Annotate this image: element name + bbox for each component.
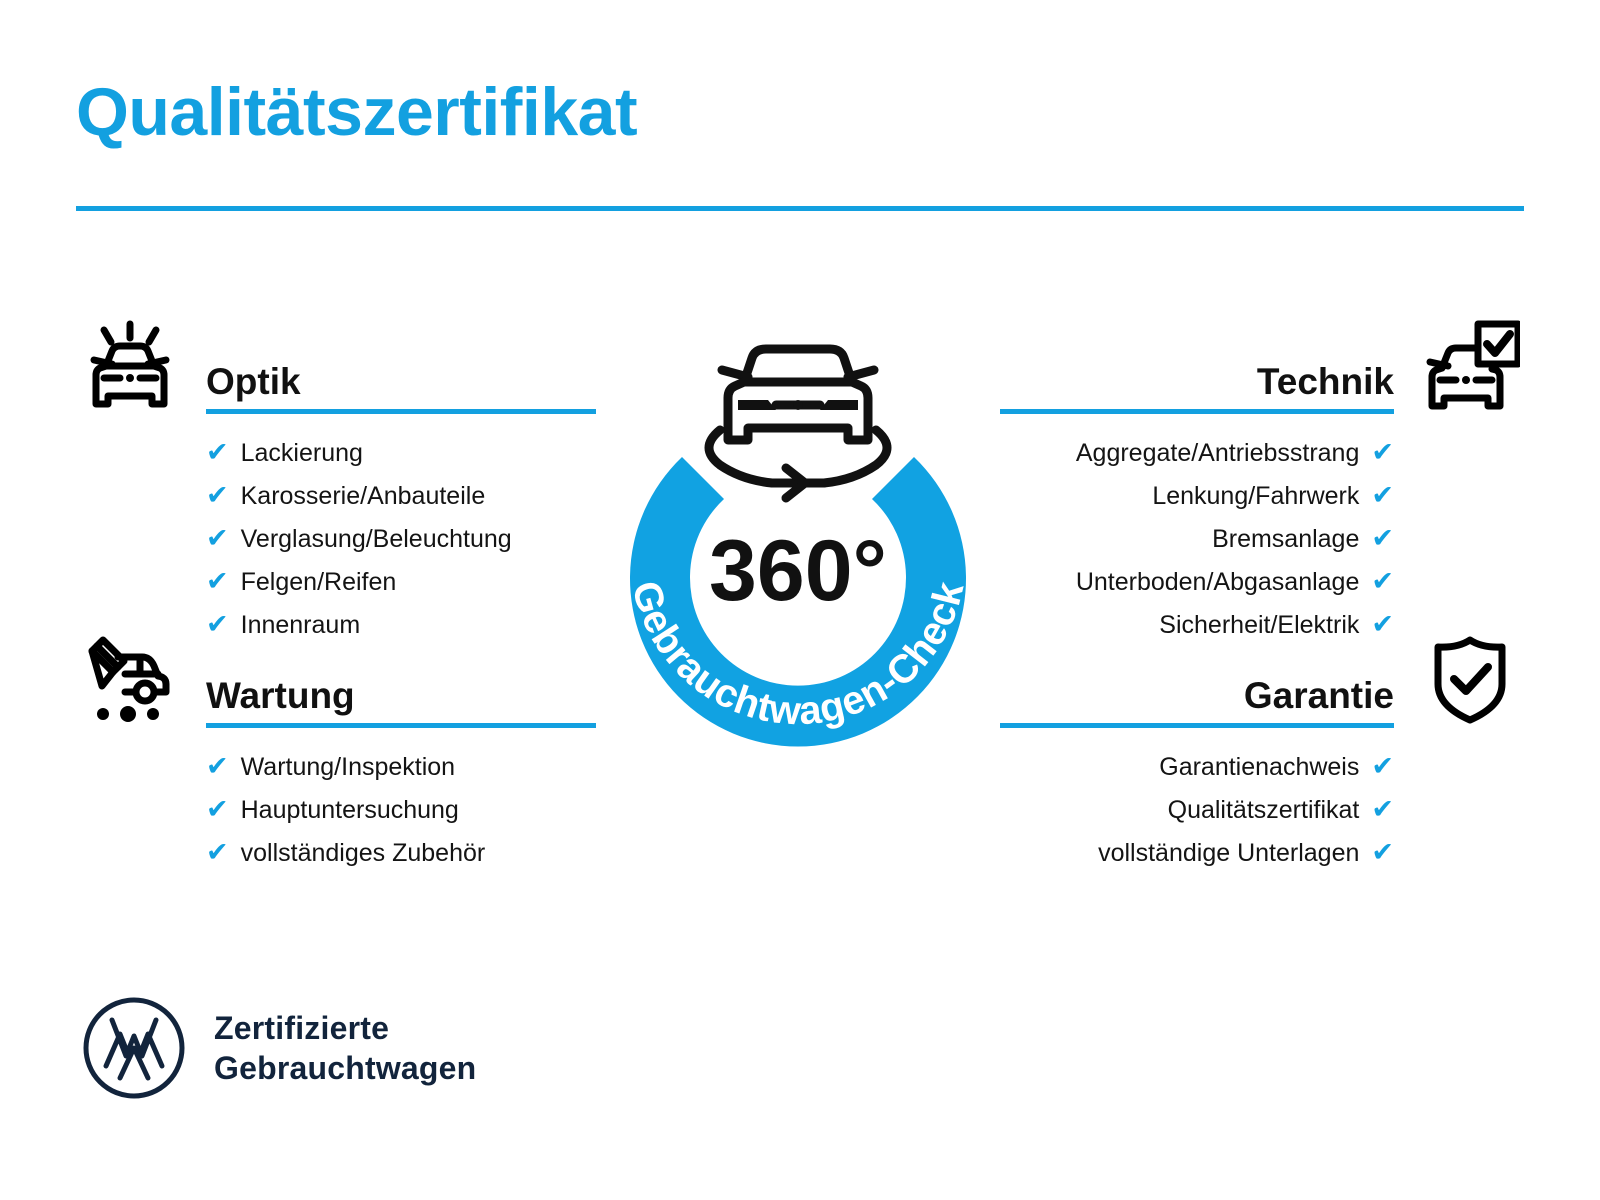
checklist-optik: ✔ Lackierung ✔ Karosserie/Anbauteile ✔ V…	[76, 414, 596, 647]
section-optik: Optik ✔ Lackierung ✔ Karosserie/Anbautei…	[76, 318, 596, 647]
list-item-label: Karosserie/Anbauteile	[241, 478, 486, 515]
list-item: Lenkung/Fahrwerk ✔	[1000, 475, 1394, 518]
list-item: Aggregate/Antriebsstrang ✔	[1000, 432, 1394, 475]
car-rotate-icon	[709, 349, 887, 498]
car-front-shine-icon	[76, 318, 184, 414]
list-item: Unterboden/Abgasanlage ✔	[1000, 561, 1394, 604]
list-item-label: Qualitätszertifikat	[1168, 792, 1360, 829]
list-item-label: vollständige Unterlagen	[1098, 835, 1359, 872]
checklist-technik: Aggregate/Antriebsstrang ✔ Lenkung/Fahrw…	[1000, 414, 1524, 647]
header-divider	[76, 206, 1524, 211]
list-item-label: Verglasung/Beleuchtung	[241, 521, 512, 558]
check-icon: ✔	[206, 753, 229, 780]
check-icon: ✔	[206, 525, 229, 552]
section-title-wartung: Wartung	[206, 677, 596, 723]
section-header-optik: Optik	[76, 318, 596, 414]
section-divider-wartung	[206, 723, 596, 728]
section-header-technik: Technik	[1000, 318, 1524, 414]
list-item: Bremsanlage ✔	[1000, 518, 1394, 561]
footer-text: Zertifizierte Gebrauchtwagen	[214, 1008, 476, 1088]
list-item-label: Aggregate/Antriebsstrang	[1076, 435, 1360, 472]
section-divider-garantie	[1000, 723, 1394, 728]
section-title-garantie: Garantie	[1000, 677, 1394, 723]
section-divider-technik	[1000, 409, 1394, 414]
shield-check-icon	[1416, 632, 1524, 728]
footer-logo-lockup: Zertifizierte Gebrauchtwagen	[80, 994, 476, 1102]
list-item: ✔ Lackierung	[206, 432, 596, 475]
vw-logo	[80, 994, 188, 1102]
section-technik: Technik Aggregate/Antriebsstrang	[1000, 318, 1524, 647]
section-title-wrap-wartung: Wartung	[184, 677, 596, 728]
list-item: ✔ Wartung/Inspektion	[206, 746, 596, 789]
section-divider-optik	[206, 409, 596, 414]
checklist-wartung: ✔ Wartung/Inspektion ✔ Hauptuntersuchung…	[76, 728, 596, 875]
list-item-label: Lackierung	[241, 435, 363, 472]
list-item-label: Felgen/Reifen	[241, 564, 397, 601]
section-wartung: Wartung ✔ Wartung/Inspektion ✔ Hauptunte…	[76, 632, 596, 875]
certificate-page: Qualitätszertifikat Optik	[0, 0, 1600, 1200]
badge-center-text: 360°	[709, 523, 887, 619]
list-item-label: Wartung/Inspektion	[241, 749, 455, 786]
list-item: Garantienachweis ✔	[1000, 746, 1394, 789]
footer-line-2: Gebrauchtwagen	[214, 1048, 476, 1088]
list-item-label: Lenkung/Fahrwerk	[1152, 478, 1359, 515]
list-item: ✔ vollständiges Zubehör	[206, 832, 596, 875]
car-front-checkbox-icon	[1416, 318, 1524, 414]
gebrauchtwagen-check-badge: Gebrauchtwagen-Check 360°	[572, 300, 1024, 762]
section-garantie: Garantie Garantienachweis ✔ Qualitätszer…	[1000, 632, 1524, 875]
check-icon: ✔	[1371, 482, 1394, 509]
list-item: vollständige Unterlagen ✔	[1000, 832, 1394, 875]
list-item-label: Bremsanlage	[1212, 521, 1359, 558]
section-title-wrap-optik: Optik	[184, 363, 596, 414]
check-icon: ✔	[1371, 839, 1394, 866]
list-item: ✔ Verglasung/Beleuchtung	[206, 518, 596, 561]
list-item-label: Garantienachweis	[1159, 749, 1359, 786]
footer-line-1: Zertifizierte	[214, 1008, 476, 1048]
check-icon: ✔	[206, 568, 229, 595]
list-item: ✔ Felgen/Reifen	[206, 561, 596, 604]
check-icon: ✔	[1371, 525, 1394, 552]
check-icon: ✔	[206, 796, 229, 823]
check-icon: ✔	[206, 439, 229, 466]
check-icon: ✔	[1371, 568, 1394, 595]
section-title-wrap-garantie: Garantie	[1000, 677, 1416, 728]
check-icon: ✔	[1371, 439, 1394, 466]
section-title-optik: Optik	[206, 363, 596, 409]
checklist-garantie: Garantienachweis ✔ Qualitätszertifikat ✔…	[1000, 728, 1524, 875]
check-icon: ✔	[206, 839, 229, 866]
check-icon: ✔	[206, 482, 229, 509]
list-item-label: Hauptuntersuchung	[241, 792, 459, 829]
section-header-wartung: Wartung	[76, 632, 596, 728]
section-header-garantie: Garantie	[1000, 632, 1524, 728]
section-title-technik: Technik	[1000, 363, 1394, 409]
list-item: Qualitätszertifikat ✔	[1000, 789, 1394, 832]
check-icon: ✔	[1371, 753, 1394, 780]
list-item-label: vollständiges Zubehör	[241, 835, 486, 872]
car-pencil-service-icon	[76, 632, 184, 728]
list-item-label: Unterboden/Abgasanlage	[1076, 564, 1360, 601]
section-title-wrap-technik: Technik	[1000, 363, 1416, 414]
list-item: ✔ Hauptuntersuchung	[206, 789, 596, 832]
page-title: Qualitätszertifikat	[76, 78, 637, 146]
check-icon: ✔	[1371, 796, 1394, 823]
list-item: ✔ Karosserie/Anbauteile	[206, 475, 596, 518]
